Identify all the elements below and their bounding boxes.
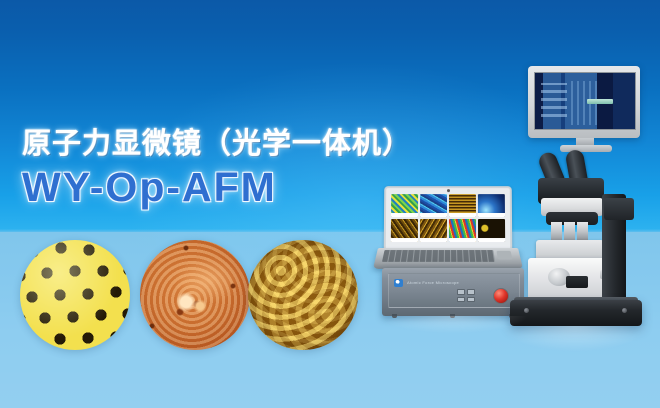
banner-headline: 原子力显微镜（光学一体机）: [22, 120, 412, 162]
base-screw-icon: [524, 308, 529, 313]
anti-vibration-base: [510, 300, 642, 326]
banner-model-number: WY-Op-AFM: [22, 164, 277, 211]
brand-logo-icon: [394, 279, 403, 287]
scan-thumbnail: [391, 194, 418, 217]
sample-image-granular-gold: [248, 240, 358, 350]
microscope-monitor: [528, 66, 640, 138]
monitor-foot: [560, 145, 612, 152]
base-screw-icon: [622, 308, 627, 313]
scan-thumbnail: [478, 219, 505, 242]
monitor-screen: [534, 72, 636, 130]
laptop-display: [384, 186, 513, 252]
scan-thumbnail: [478, 194, 505, 217]
controller-feet: [392, 314, 514, 318]
sample-image-atomic-terrace: [140, 240, 250, 350]
scan-thumbnail-grid: [391, 194, 505, 242]
afm-controller-unit: Atomic Force Microscope: [382, 268, 524, 316]
touchpad: [496, 251, 512, 260]
keyboard-keys: [382, 250, 495, 262]
laptop-keyboard-base: [373, 248, 523, 269]
product-banner: 原子力显微镜（光学一体机） WY-Op-AFM Atomic Force Mic…: [0, 0, 660, 408]
column-housing: [604, 198, 634, 220]
controller-button: [457, 289, 465, 295]
controller-button: [467, 297, 475, 303]
monitor-ui-panel-left: [541, 83, 567, 117]
power-knob: [493, 288, 509, 304]
controller-button: [467, 289, 475, 295]
webcam-icon: [447, 189, 450, 192]
nanopore-highlight: [20, 240, 130, 350]
sample-stage-plate: [566, 276, 588, 288]
sample-image-nanoporous-array: [20, 240, 130, 350]
controller-button-pad: [457, 289, 475, 302]
controller-brand-text: Atomic Force Microscope: [407, 279, 459, 287]
controller-front-panel: Atomic Force Microscope: [388, 273, 520, 308]
scan-thumbnail: [449, 194, 476, 217]
cantilever-view: [587, 99, 613, 104]
scan-thumbnail: [420, 219, 447, 242]
controller-button: [457, 297, 465, 303]
scan-thumbnail: [449, 219, 476, 242]
scan-thumbnail: [391, 219, 418, 242]
granular-vignette: [248, 240, 358, 350]
scan-thumbnail: [420, 194, 447, 217]
